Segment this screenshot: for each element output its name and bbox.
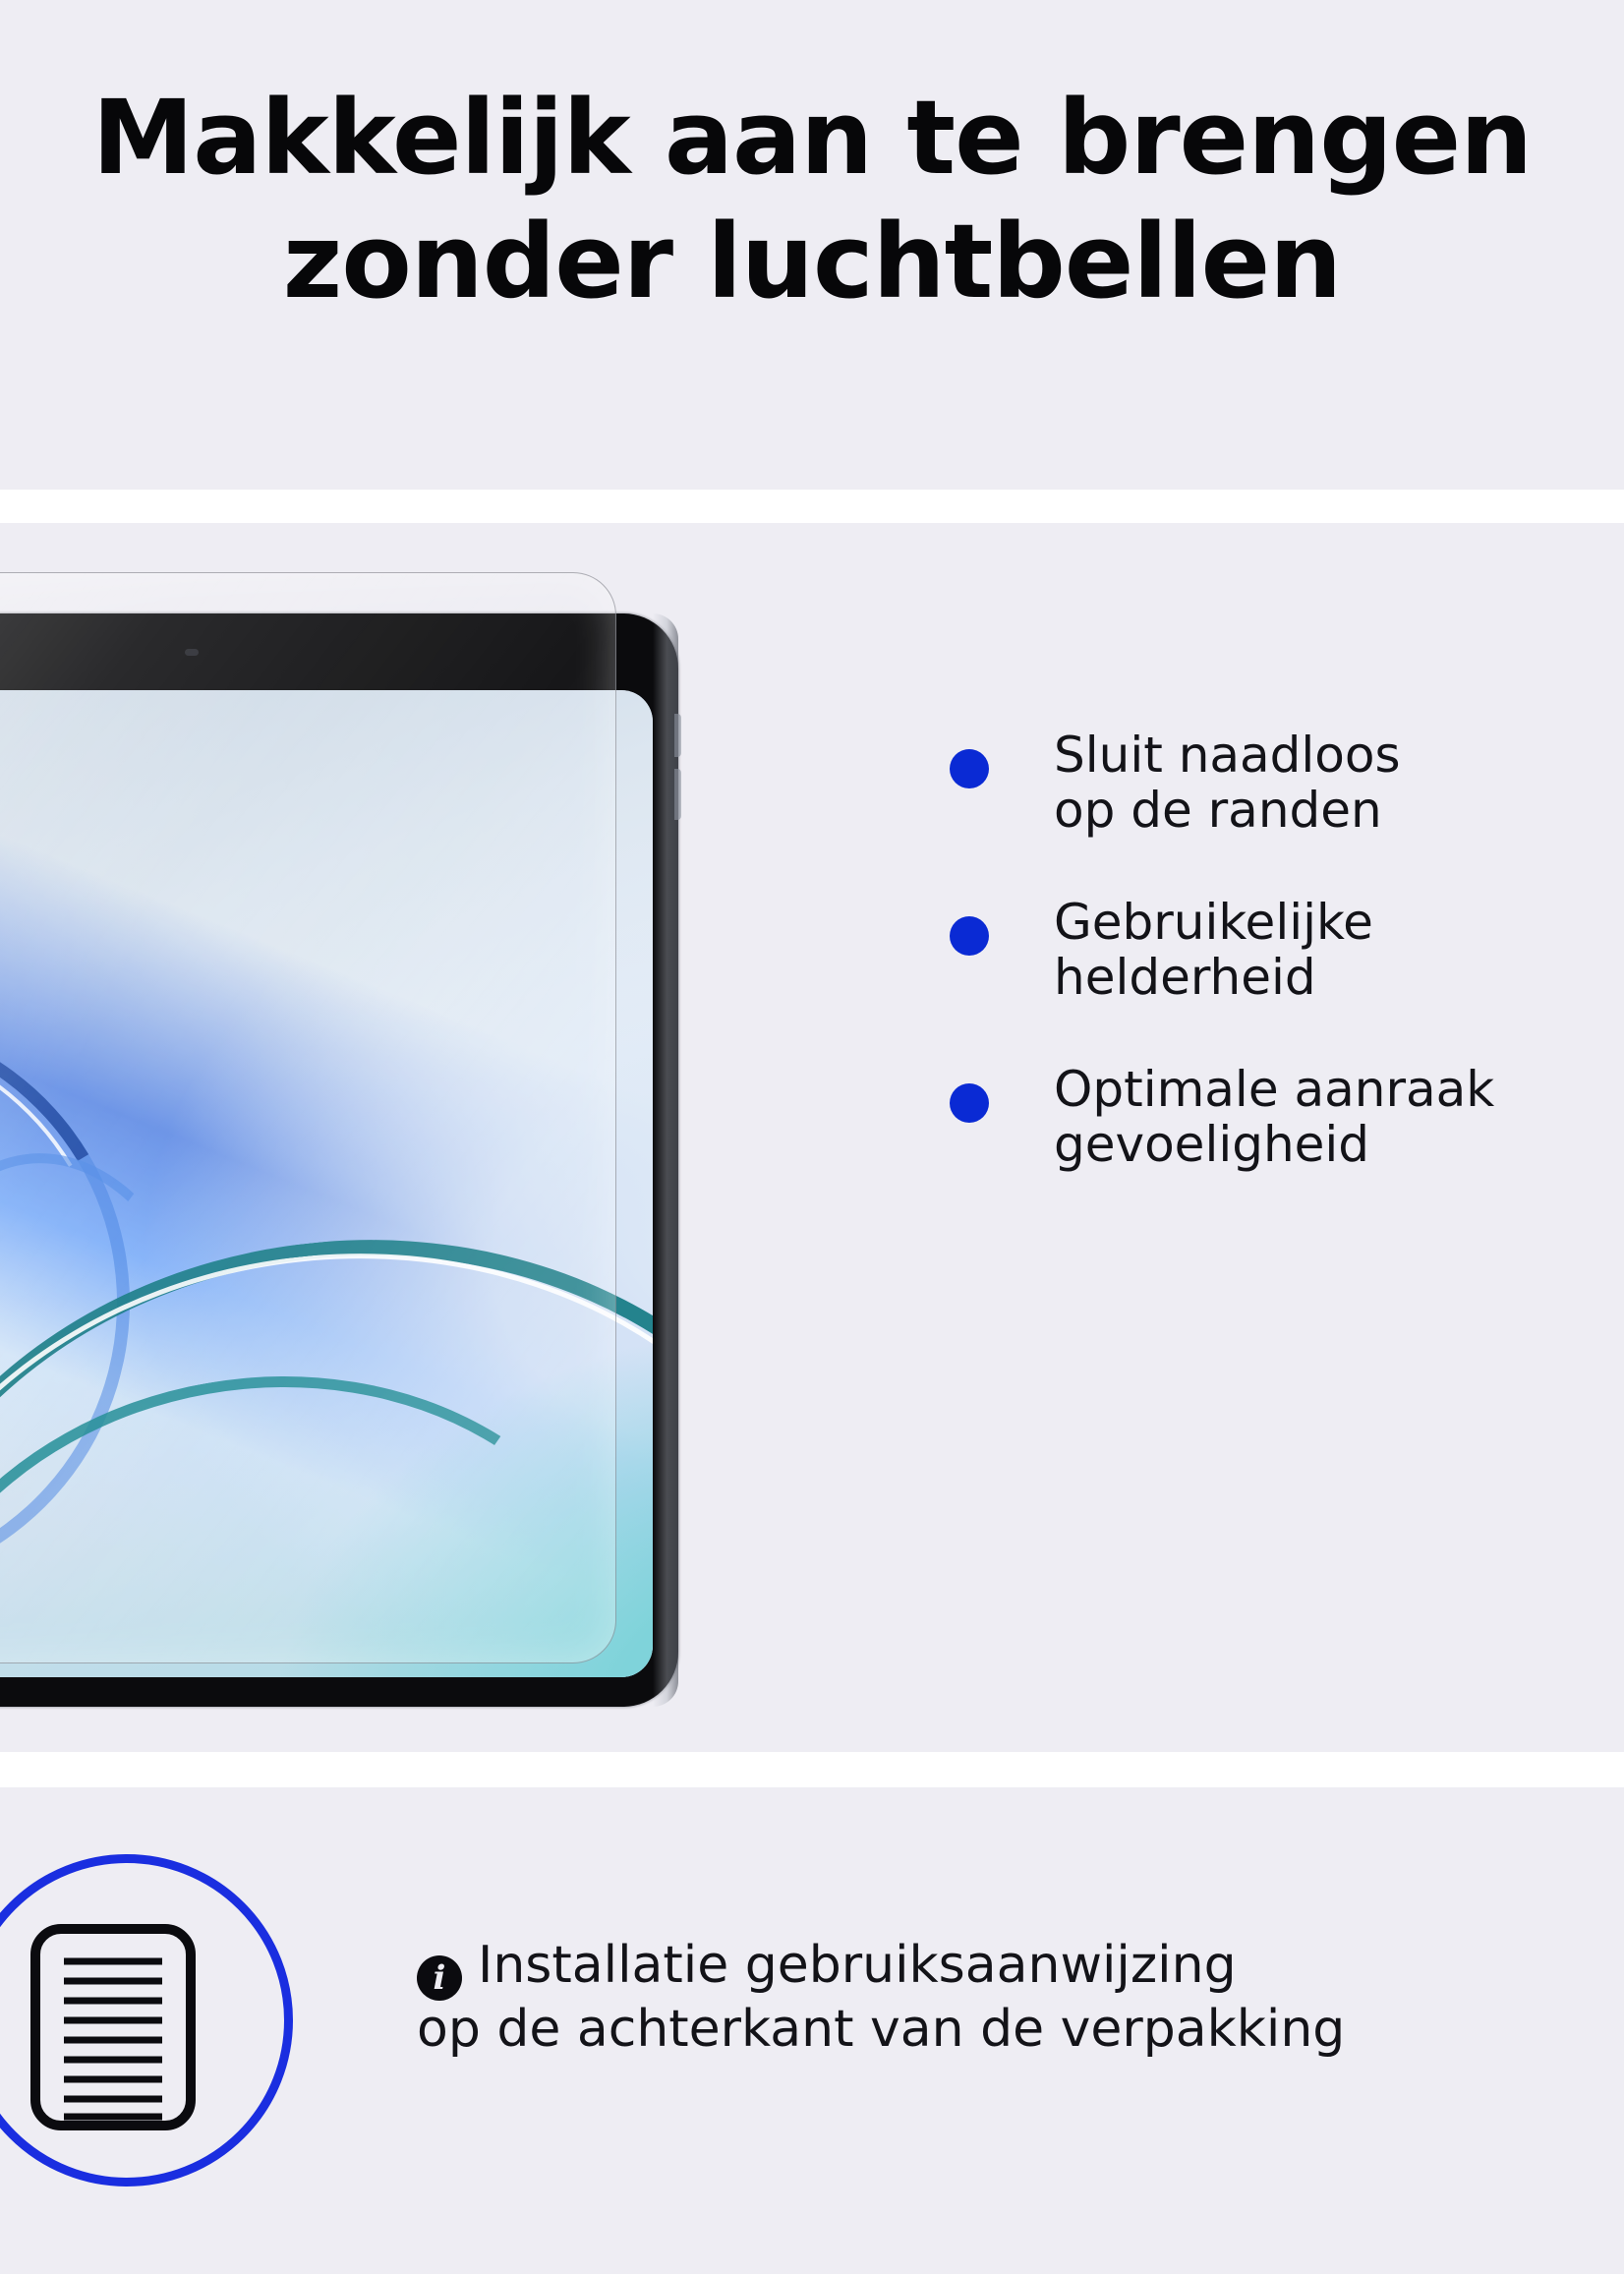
info-icon: i xyxy=(417,1955,462,2001)
wallpaper-gloss xyxy=(0,690,653,1677)
feature-item-seamless-edges: Sluit naadloos op de randen xyxy=(944,728,1624,895)
volume-up-button[interactable] xyxy=(674,714,681,757)
feature-item-touch-sensitivity: Optimale aanraak gevoeligheid xyxy=(944,1062,1624,1229)
wave-strand-b xyxy=(0,954,191,1652)
wave-strand-main xyxy=(0,807,653,1677)
feature-text-line-2: gevoeligheid xyxy=(1054,1117,1624,1172)
bullet-icon xyxy=(950,749,989,788)
section-divider-top xyxy=(0,490,1624,523)
header-section: Makkelijk aan te brengen zonder luchtbel… xyxy=(0,0,1624,490)
tablet-device xyxy=(0,613,678,1707)
wave-strand-teal-lower xyxy=(0,1316,653,1677)
bullet-icon xyxy=(950,916,989,956)
manual-line-2: op de achterkant van de verpakking xyxy=(417,2001,1624,2058)
tablet-body xyxy=(0,613,678,1707)
feature-text-line-2: helderheid xyxy=(1054,950,1624,1005)
wave-strand-c xyxy=(0,1133,242,1614)
manual-line-1-text: Installatie gebruiksaanwijzing xyxy=(478,1936,1237,1995)
footer-section: iInstallatie gebruiksaanwijzing op de ac… xyxy=(0,1787,1624,2274)
front-camera-icon xyxy=(185,649,199,656)
manual-line-1: iInstallatie gebruiksaanwijzing xyxy=(417,1937,1624,2001)
manual-badge-circle xyxy=(0,1854,293,2187)
document-manual-icon xyxy=(30,1924,196,2130)
headline-line-1: Makkelijk aan te brengen xyxy=(0,87,1624,189)
wave-strand-teal xyxy=(0,1191,653,1677)
section-divider-bottom xyxy=(0,1752,1624,1787)
feature-text-line-1: Sluit naadloos xyxy=(1054,728,1624,783)
tablet-screen xyxy=(0,690,653,1677)
manual-instruction-text: iInstallatie gebruiksaanwijzing op de ac… xyxy=(417,1937,1624,2058)
wallpaper-image xyxy=(0,690,653,1677)
wave-strand-main-hilite xyxy=(0,818,653,1677)
feature-text-line-1: Gebruikelijke xyxy=(1054,895,1624,950)
volume-down-button[interactable] xyxy=(674,769,681,820)
wave-strand-b-hilite xyxy=(0,970,171,1648)
product-section: Sluit naadloos op de randen Gebruikelijk… xyxy=(0,523,1624,1752)
feature-text-line-2: op de randen xyxy=(1054,783,1624,838)
feature-text-line-1: Optimale aanraak xyxy=(1054,1062,1624,1117)
headline-line-2: zonder luchtbellen xyxy=(0,210,1624,313)
bullet-icon xyxy=(950,1083,989,1123)
feature-item-clarity: Gebruikelijke helderheid xyxy=(944,895,1624,1062)
feature-list: Sluit naadloos op de randen Gebruikelijk… xyxy=(944,728,1624,1229)
wave-strand-c-hilite xyxy=(0,1143,239,1609)
page-title: Makkelijk aan te brengen zonder luchtbel… xyxy=(0,87,1624,313)
wave-strand-a-hilite xyxy=(0,764,131,1403)
wave-strand-a xyxy=(0,746,131,1403)
wave-strand-teal-hilite xyxy=(0,1205,653,1677)
